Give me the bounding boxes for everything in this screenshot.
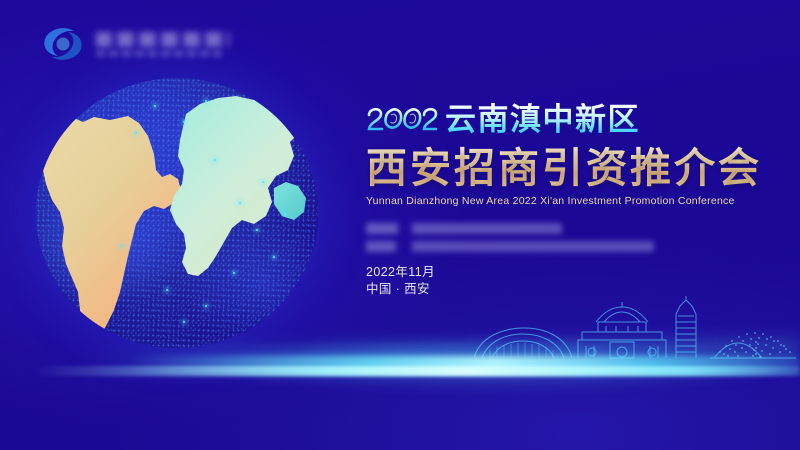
logo — [40, 22, 230, 66]
title-block: 云南滇中新区 西安招商引资推介会 Yunnan Dianzhong New Ar… — [366, 96, 774, 298]
globe-graphic — [22, 72, 334, 350]
swoosh-globe-icon — [40, 22, 86, 66]
conference-poster: 云南滇中新区 西安招商引资推介会 Yunnan Dianzhong New Ar… — [0, 0, 800, 450]
subtitle-en: Yunnan Dianzhong New Area 2022 Xi'an Inv… — [366, 195, 774, 207]
event-meta: 2022年11月 中国 · 西安 — [366, 264, 774, 298]
logo-en-text-redacted — [96, 50, 222, 57]
year-2022-badge — [366, 102, 438, 138]
xian-skyline-icon — [470, 296, 800, 372]
logo-cn-text-redacted — [96, 32, 230, 47]
redacted-line — [366, 223, 562, 234]
brand-row: 云南滇中新区 — [366, 96, 774, 138]
redacted-line — [366, 241, 654, 252]
redacted-info-block — [366, 223, 774, 252]
brand-name-cn: 云南滇中新区 — [445, 102, 640, 138]
globe-light-points — [36, 78, 318, 348]
page-title: 西安招商引资推介会 — [366, 144, 774, 192]
globe-sphere — [36, 78, 318, 348]
logo-wordmark — [96, 32, 230, 57]
event-date: 2022年11月 — [366, 264, 774, 281]
